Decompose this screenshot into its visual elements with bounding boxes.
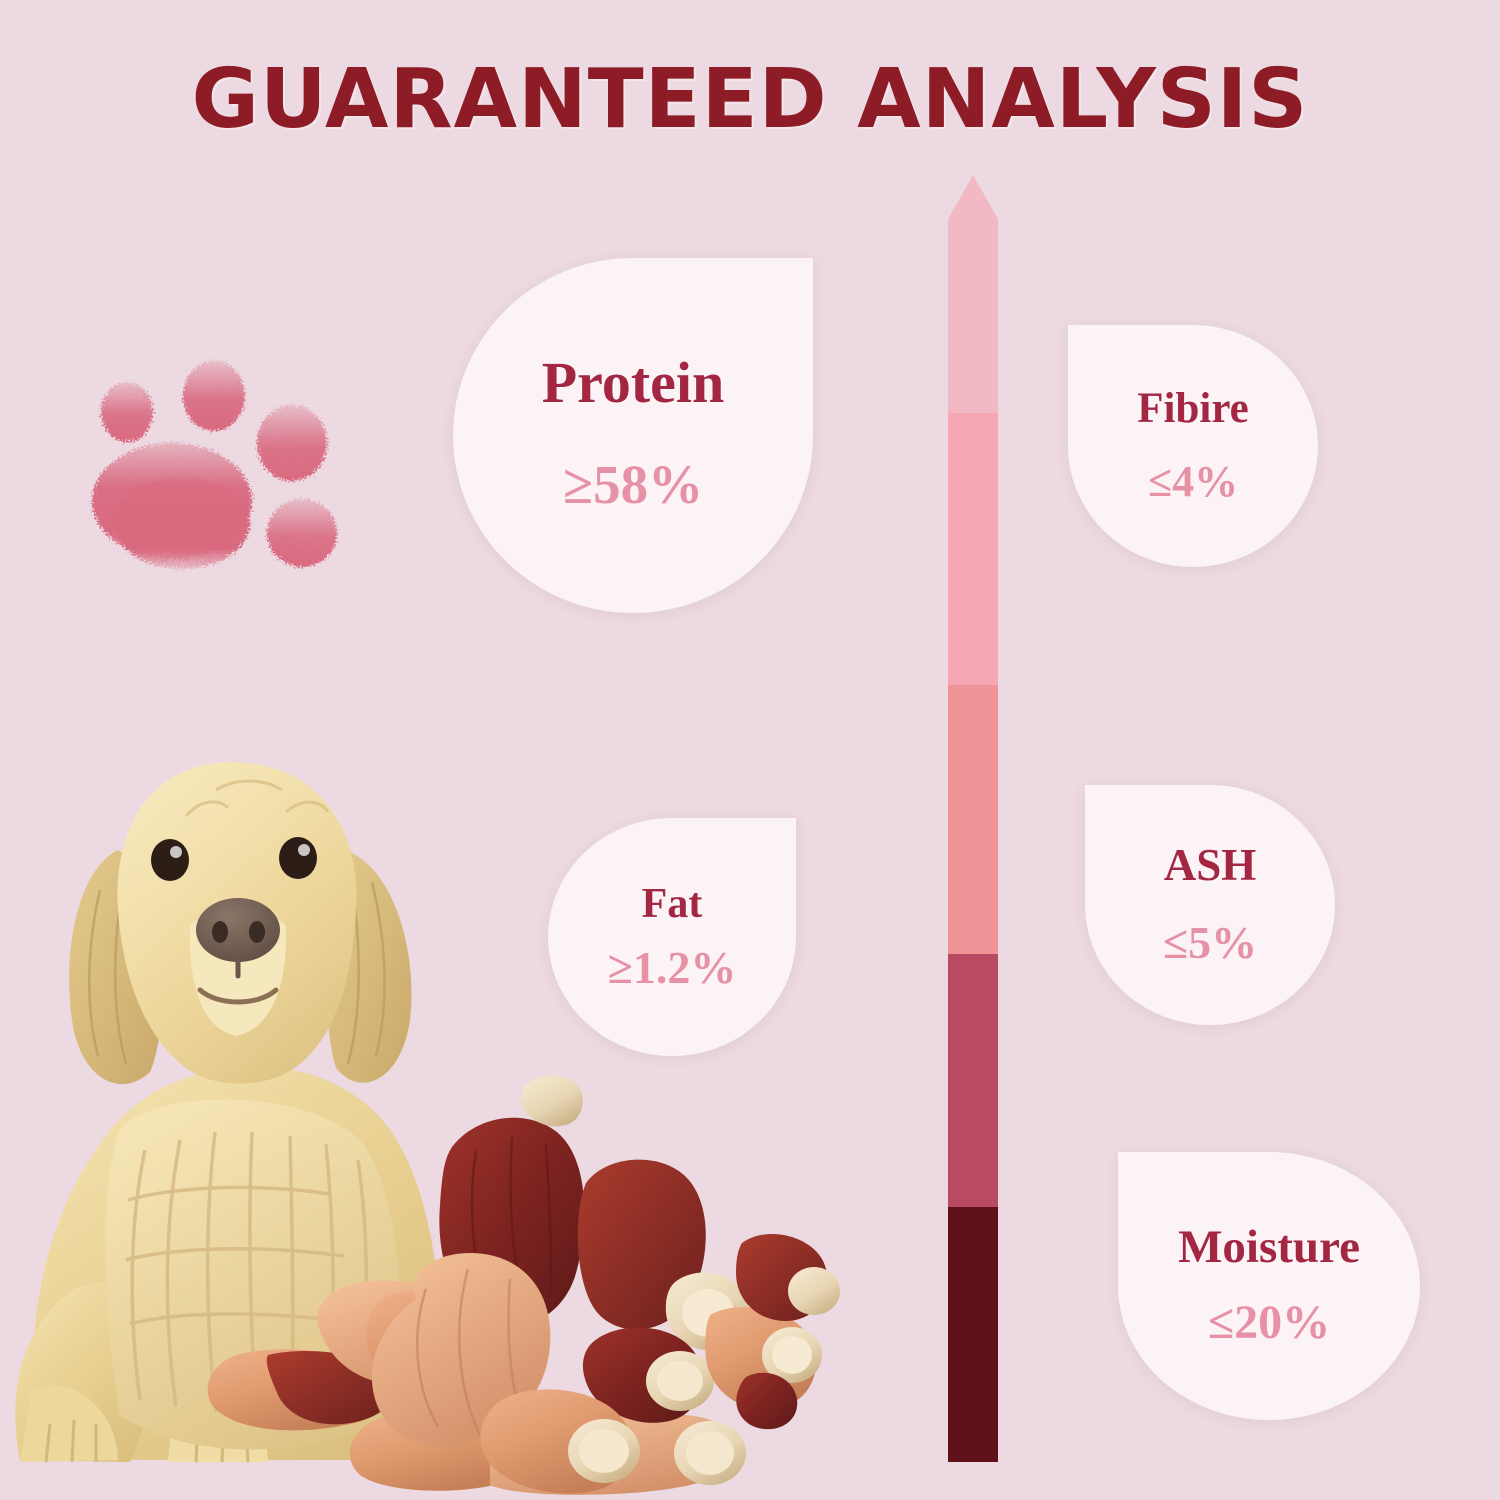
- guaranteed-analysis-infographic: GUARANTEED ANALYSIS: [0, 0, 1500, 1500]
- callout-protein-value: ≥58%: [563, 456, 703, 514]
- callout-protein-label: Protein: [542, 353, 725, 414]
- callout-ash-label: ASH: [1164, 842, 1257, 889]
- callout-fibire: Fibire ≤4%: [1068, 325, 1318, 567]
- callout-moisture-value: ≤20%: [1208, 1298, 1330, 1348]
- meter-segment-rose: [948, 943, 998, 1207]
- vertical-gradient-meter-bar: [948, 175, 998, 1463]
- callout-ash-value: ≤5%: [1163, 919, 1257, 967]
- callout-fat-value: ≥1.2%: [608, 944, 737, 992]
- callout-ash: ASH ≤5%: [1085, 785, 1335, 1025]
- callout-fat: Fat ≥1.2%: [548, 818, 796, 1056]
- meter-segment-medium: [948, 683, 998, 954]
- meter-segment-lightest-arrow-tip: [948, 175, 998, 413]
- page-title: GUARANTEED ANALYSIS: [0, 52, 1500, 147]
- wrapped-rawhide-treats-pile: [190, 1055, 850, 1500]
- callout-protein: Protein ≥58%: [453, 258, 813, 613]
- meter-segment-darkest: [948, 1196, 998, 1462]
- callout-fat-label: Fat: [642, 882, 703, 926]
- callout-fibire-value: ≤4%: [1148, 459, 1238, 505]
- meter-segment-light: [948, 404, 998, 686]
- callout-moisture: Moisture ≤20%: [1118, 1152, 1420, 1420]
- paw-print-icon: [80, 338, 352, 600]
- callout-moisture-label: Moisture: [1178, 1223, 1360, 1272]
- callout-fibire-label: Fibire: [1137, 386, 1248, 431]
